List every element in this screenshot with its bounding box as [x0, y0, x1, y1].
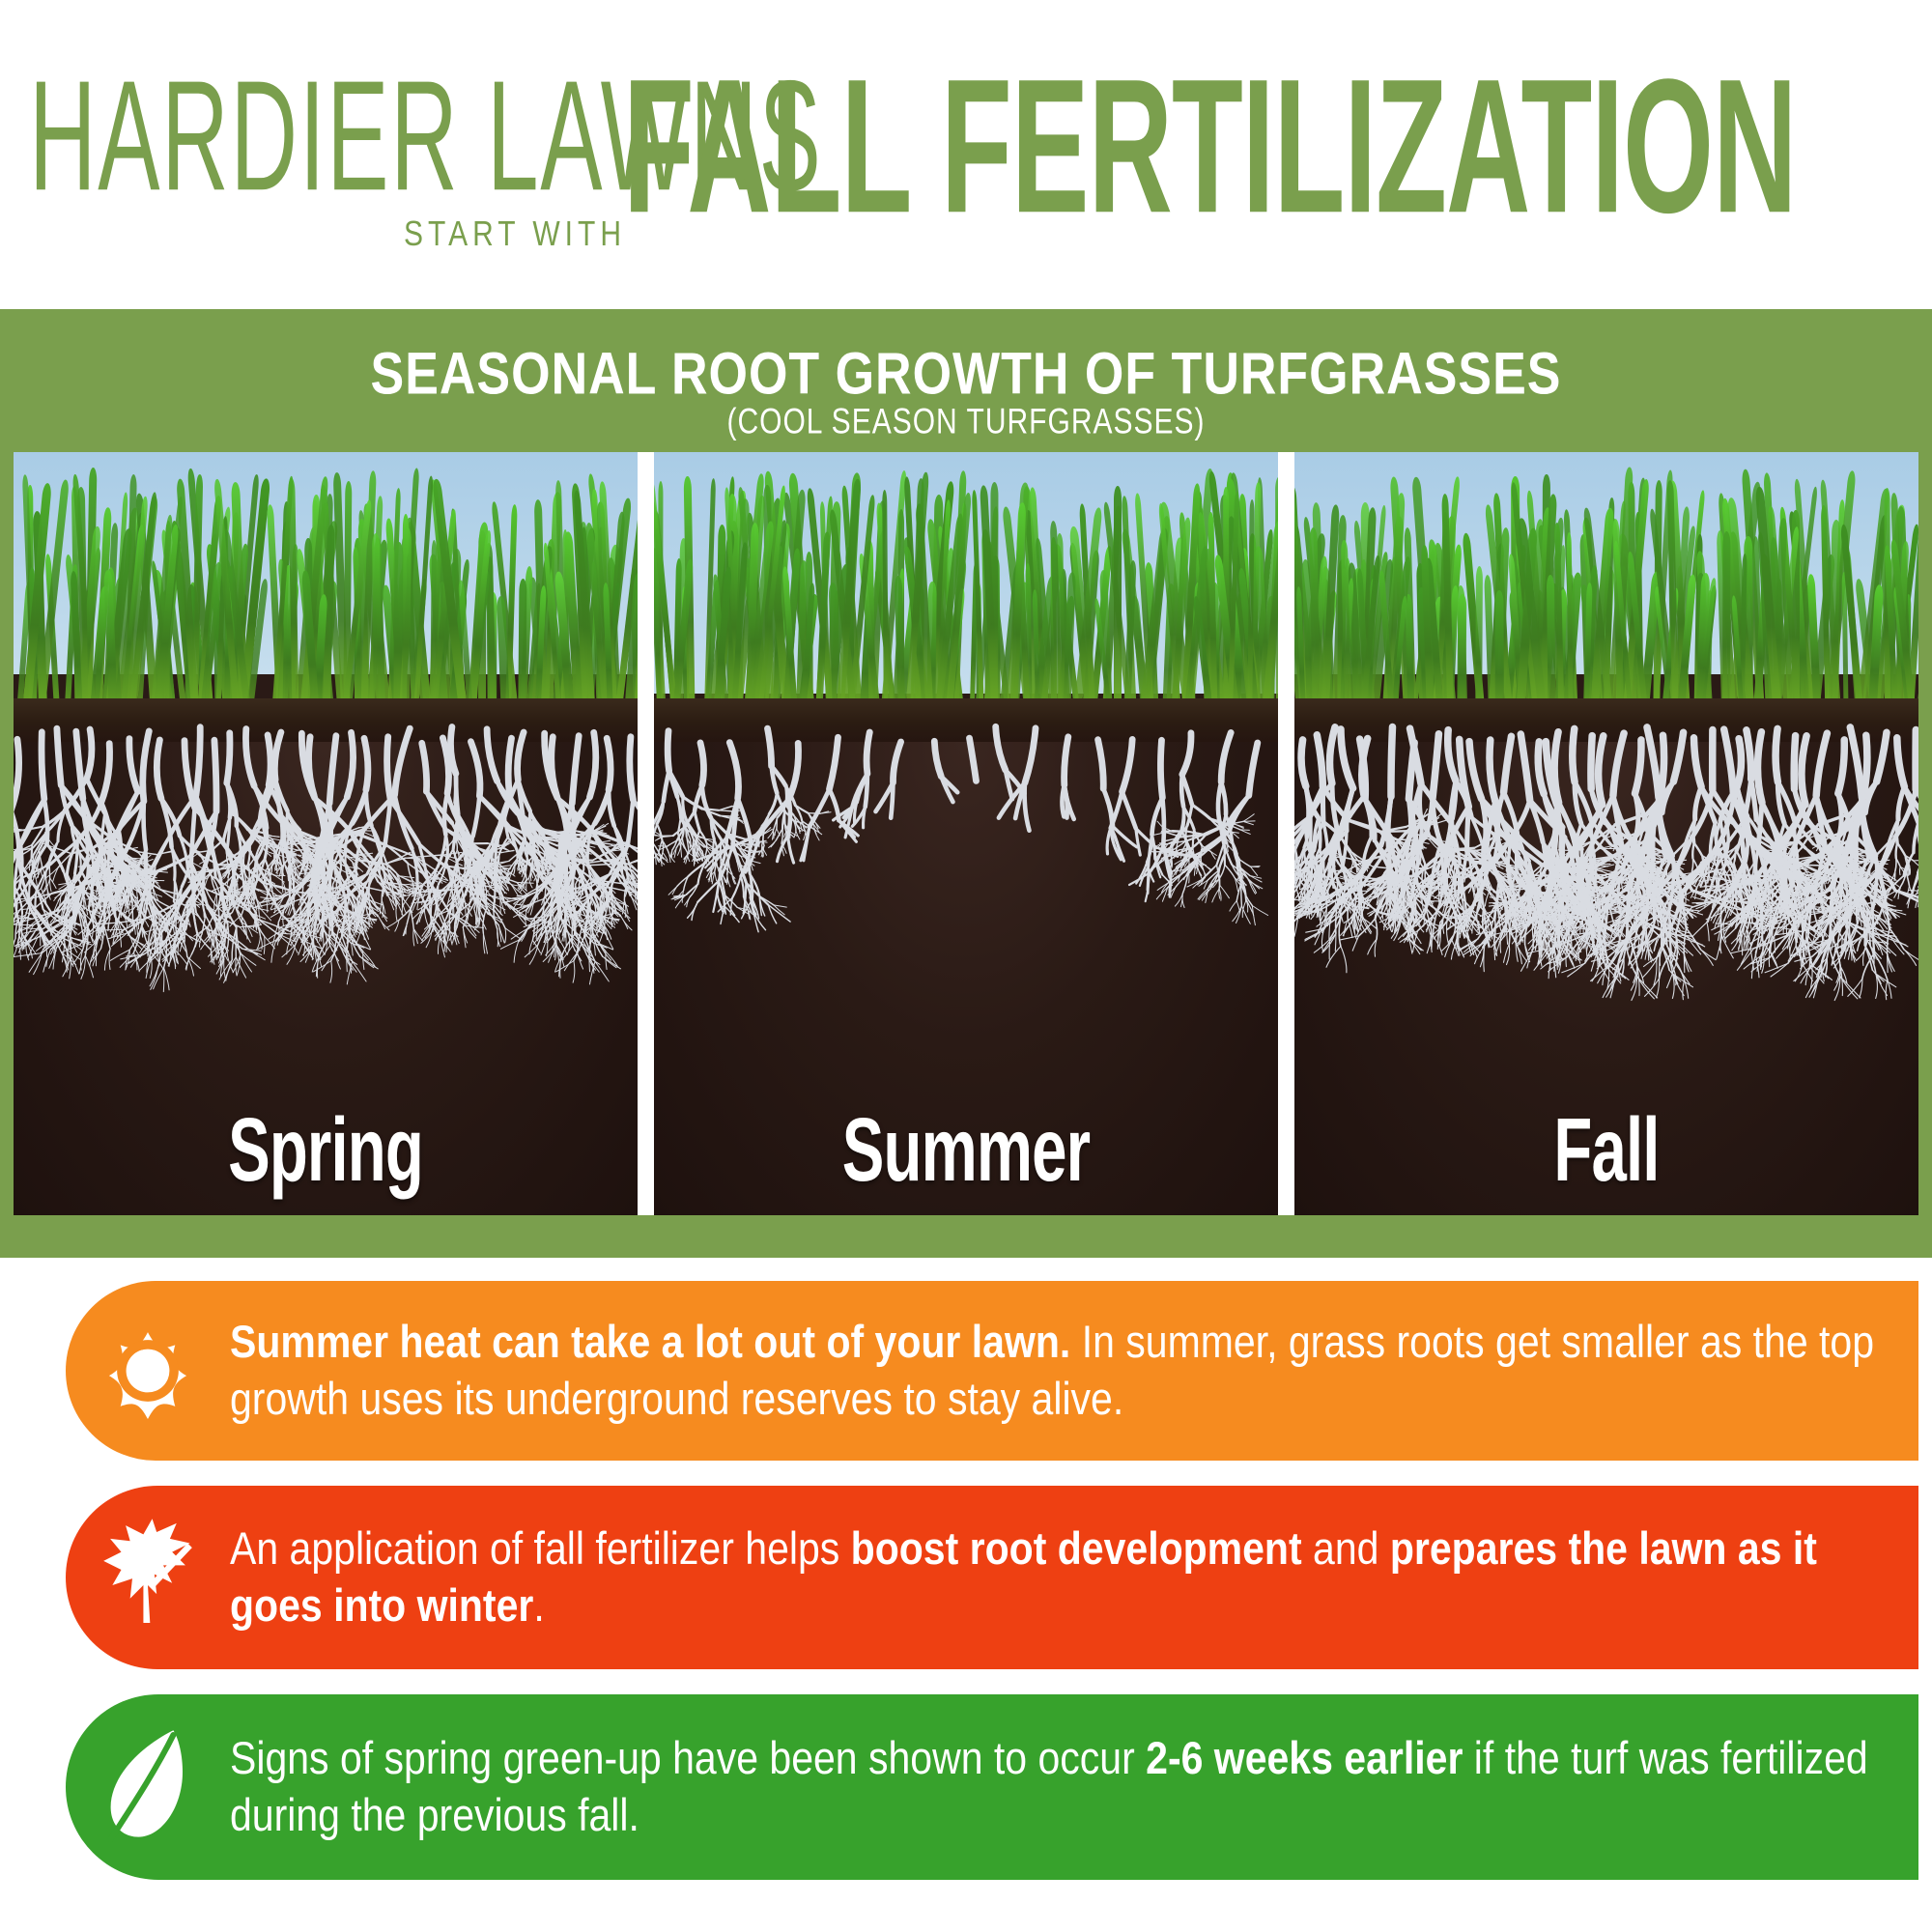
fact-plain: An application of fall fertilizer helps: [230, 1522, 851, 1574]
fact-lead-summer-heat: Summer heat can take a lot out of your l…: [230, 1316, 1070, 1367]
fact-plain: .: [533, 1579, 544, 1631]
fact-bar-fall-fertilizer: An application of fall fertilizer helps …: [66, 1486, 1918, 1669]
season-panels: Spring Summer Fall: [14, 452, 1918, 1215]
leaf-icon: [66, 1694, 230, 1880]
fact-text-spring-greenup: Signs of spring green-up have been shown…: [230, 1730, 1918, 1845]
seasonal-root-growth-section: SEASONAL ROOT GROWTH OF TURFGRASSES (COO…: [0, 309, 1932, 1258]
fact-emphasis: boost root development: [851, 1522, 1302, 1574]
panel-spring: Spring: [14, 452, 638, 1215]
fact-plain: and: [1302, 1522, 1390, 1574]
section-subtitle: (COOL SEASON TURFGRASSES): [0, 402, 1932, 443]
maple-leaf-icon: [66, 1486, 230, 1669]
headline-hardier-lawns: HARDIER LAWNS: [29, 58, 694, 214]
fact-text-fall-fertilizer: An application of fall fertilizer helps …: [230, 1520, 1918, 1635]
fact-text-summer-heat: Summer heat can take a lot out of your l…: [230, 1314, 1918, 1429]
sun-icon: [66, 1281, 230, 1461]
fact-bar-summer-heat: Summer heat can take a lot out of your l…: [66, 1281, 1918, 1461]
panel-fall: Fall: [1294, 452, 1918, 1215]
panel-summer: Summer: [654, 452, 1278, 1215]
section-title: SEASONAL ROOT GROWTH OF TURFGRASSES: [0, 340, 1932, 409]
title-block: HARDIER LAWNS START WITH FALL FERTILIZAT…: [0, 0, 1932, 290]
headline-fall-fertilization: FALL FERTILIZATION: [623, 50, 1797, 241]
season-label-fall: Fall: [1338, 1099, 1875, 1202]
fact-plain: Signs of spring green-up have been shown…: [230, 1732, 1146, 1783]
fact-emphasis: 2-6 weeks earlier: [1146, 1732, 1463, 1783]
headline-start-with: START WITH: [404, 215, 626, 255]
fact-bar-spring-greenup: Signs of spring green-up have been shown…: [66, 1694, 1918, 1880]
season-label-summer: Summer: [697, 1099, 1235, 1202]
fact-bars: Summer heat can take a lot out of your l…: [0, 1275, 1932, 1913]
season-label-spring: Spring: [57, 1099, 594, 1202]
infographic-page: HARDIER LAWNS START WITH FALL FERTILIZAT…: [0, 0, 1932, 1932]
